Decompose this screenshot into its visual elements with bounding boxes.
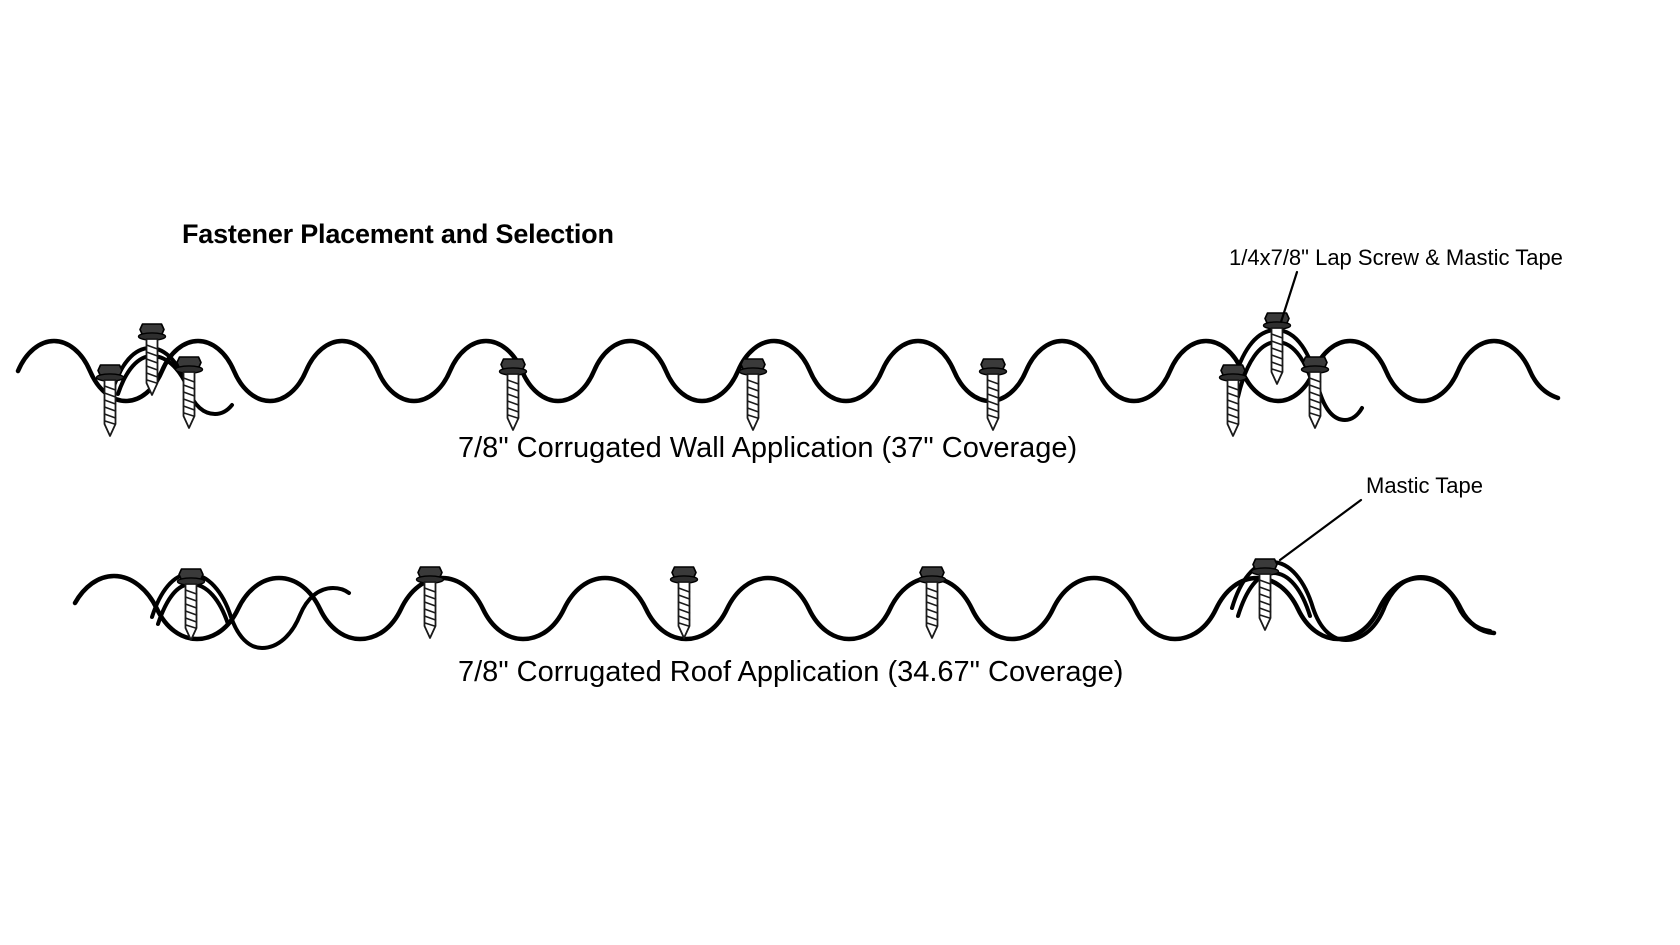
wall-screw-6 [980, 359, 1007, 430]
roof-annotation-label: Mastic Tape [1366, 473, 1483, 498]
roof-panel-group: Mastic Tape 7/8" Corrugated Roof Applica… [75, 473, 1494, 688]
roof-screw-2 [417, 567, 444, 638]
roof-screw-5 [1252, 559, 1279, 630]
wall-screw-7 [1220, 365, 1247, 436]
roof-screw-4 [919, 567, 946, 638]
roof-screw-3 [671, 567, 698, 638]
diagram-canvas: Fastener Placement and Selection [0, 0, 1680, 945]
wall-panel-group: 1/4x7/8" Lap Screw & Mastic Tape 7/8" Co… [18, 245, 1563, 464]
roof-screw-1 [178, 569, 205, 640]
wall-screw-3 [176, 357, 203, 428]
roof-panel-caption: 7/8" Corrugated Roof Application (34.67"… [458, 656, 1123, 688]
fastener-diagram: Fastener Placement and Selection [0, 0, 1680, 945]
wall-screw-9 [1302, 357, 1329, 428]
page-title: Fastener Placement and Selection [182, 219, 614, 249]
wall-annotation-leader [1281, 272, 1297, 322]
wall-annotation-label: 1/4x7/8" Lap Screw & Mastic Tape [1229, 245, 1563, 270]
wall-panel-caption: 7/8" Corrugated Wall Application (37" Co… [458, 432, 1077, 464]
wall-screw-8 [1264, 313, 1291, 384]
roof-panel-profile [75, 576, 1494, 639]
roof-annotation-leader [1280, 500, 1361, 560]
wall-screw-4 [500, 359, 527, 430]
wall-screw-5 [740, 359, 767, 430]
wall-left-lap-overlap [113, 348, 232, 414]
